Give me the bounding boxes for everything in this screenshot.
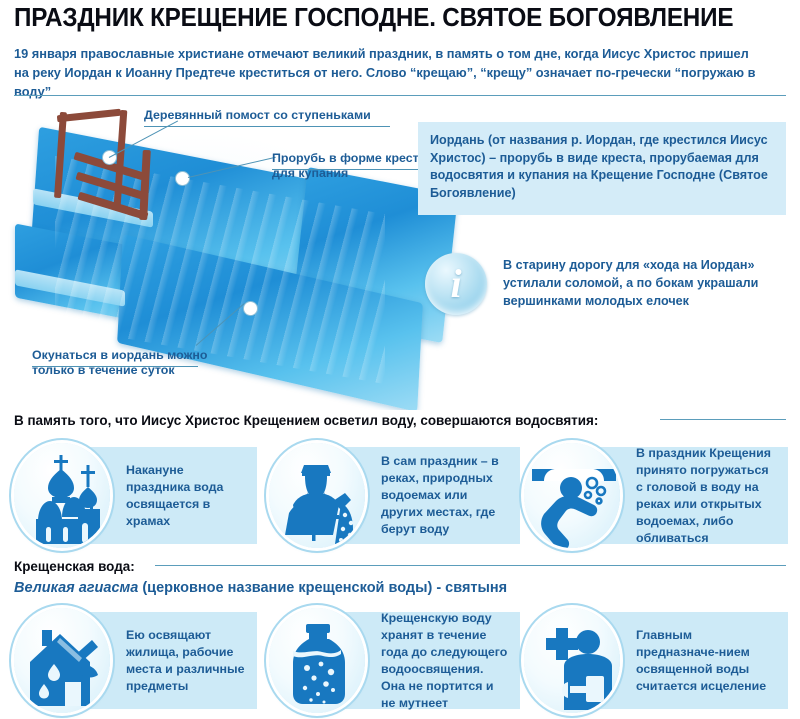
ladder-handrail [57, 109, 121, 123]
blessing-row: Накануне праздника вода освящается в хра… [0, 443, 800, 548]
jordan-definition-text: Иордань (от названия р. Иордан, где крес… [430, 132, 774, 202]
blessing-item-3: В праздник Крещения принято погружаться … [522, 443, 788, 548]
callout-duration-label: Окунаться в иордань можно только в течен… [32, 348, 207, 377]
info-icon: i [425, 253, 487, 315]
section-blessing-rule [660, 419, 786, 420]
callout-platform-label: Деревянный помост со ступеньками [144, 108, 371, 122]
ladder-rail-left [54, 112, 67, 198]
section-water-rule [155, 565, 786, 566]
bottle-icon [267, 608, 367, 713]
callout-dot-cross [176, 172, 189, 185]
healing-icon [522, 608, 622, 713]
header-divider [14, 95, 786, 96]
church-icon [12, 443, 112, 548]
blessing-item-1: Накануне праздника вода освящается в хра… [12, 443, 257, 548]
section-water-subheading: Великая агиасма (церковное название крещ… [14, 580, 507, 596]
jordan-definition-panel: Иордань (от названия р. Иордан, где крес… [418, 122, 786, 215]
agiasma-term: Великая агиасма [14, 580, 138, 596]
blessing-item-2: В сам праздник – в реках, природных водо… [267, 443, 520, 548]
bather-icon [522, 443, 622, 548]
water-item-2: Крещенскую воду хранят в течение года до… [267, 608, 520, 713]
water-item-3: Главным предназначе-нием освященной воды… [522, 608, 788, 713]
info-icon-glyph: i [425, 253, 487, 315]
callout-platform: Деревянный помост со ступеньками [144, 108, 404, 123]
intro-paragraph: 19 января православные христиане отмечаю… [14, 44, 763, 101]
section-blessing-heading: В память того, что Иисус Христос Крещени… [14, 412, 598, 428]
water-row: Ею освящают жилища, рабочие места и разл… [0, 608, 800, 713]
callout-dot-duration [244, 302, 257, 315]
water-item-1: Ею освящают жилища, рабочие места и разл… [12, 608, 257, 713]
footer-spacer [0, 714, 800, 719]
section-water-heading: Крещенская вода: [14, 558, 135, 574]
page-title: ПРАЗДНИК КРЕЩЕНИЕ ГОСПОДНЕ. СВЯТОЕ БОГОЯ… [14, 4, 753, 33]
priest-icon [267, 443, 367, 548]
info-note-text: В старину дорогу для «хода на Иордан» ус… [503, 256, 785, 310]
agiasma-description: (церковное название крещенской воды) - с… [138, 580, 507, 596]
callout-duration: Окунаться в иордань можно только в течен… [32, 333, 242, 393]
info-note-block: i В старину дорогу для «хода на Иордан» … [425, 253, 785, 325]
callout-cross-hole-label: Прорубь в форме креста для купания [272, 151, 426, 180]
house-blessing-icon [12, 608, 112, 713]
infographic-page: ПРАЗДНИК КРЕЩЕНИЕ ГОСПОДНЕ. СВЯТОЕ БОГОЯ… [0, 0, 800, 719]
wooden-ladder [45, 110, 175, 235]
